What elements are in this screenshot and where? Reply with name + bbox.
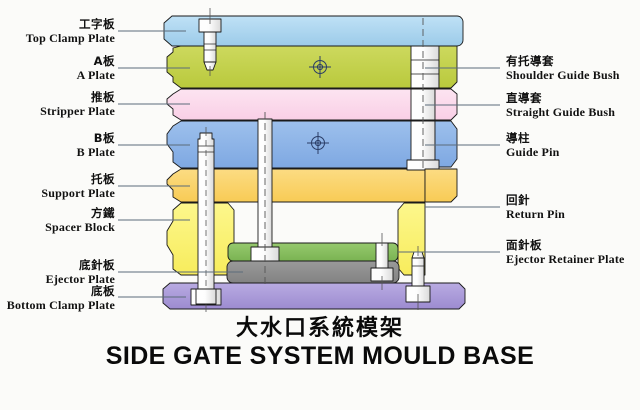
label-bottom-clamp-plate-en: Bottom Clamp Plate	[7, 298, 115, 312]
label-straight-guide-bush-en: Straight Guide Bush	[506, 105, 615, 119]
diagram-title: 大水口系統模架 SIDE GATE SYSTEM MOULD BASE	[0, 316, 640, 370]
shoulder-guide-bush	[411, 46, 439, 88]
label-spacer-block-en: Spacer Block	[45, 220, 115, 234]
label-straight-guide-bush: 直導套 Straight Guide Bush	[506, 92, 615, 119]
label-top-clamp-plate-cn: 工字板	[26, 18, 115, 31]
label-shoulder-guide-bush: 有托導套 Shoulder Guide Bush	[506, 55, 620, 82]
label-return-pin-cn: 回針	[506, 194, 565, 207]
label-stripper-plate: 推板 Stripper Plate	[40, 91, 115, 118]
label-stripper-plate-en: Stripper Plate	[40, 104, 115, 118]
label-support-plate: 托板 Support Plate	[41, 173, 115, 200]
label-top-clamp-plate-en: Top Clamp Plate	[26, 31, 115, 45]
label-bottom-clamp-plate-cn: 底板	[7, 285, 115, 298]
label-a-plate: A板 A Plate	[77, 55, 115, 82]
label-shoulder-guide-bush-en: Shoulder Guide Bush	[506, 68, 620, 82]
label-guide-pin-cn: 導柱	[506, 132, 559, 145]
label-top-clamp-plate: 工字板 Top Clamp Plate	[26, 18, 115, 45]
label-ejector-retainer-plate-cn: 面針板	[506, 239, 625, 252]
label-b-plate-en: B Plate	[77, 145, 115, 159]
diagram-title-cn: 大水口系統模架	[0, 316, 640, 342]
label-ejector-plate: 底針板 Ejector Plate	[46, 259, 115, 286]
label-bottom-clamp-plate: 底板 Bottom Clamp Plate	[7, 285, 115, 312]
label-ejector-plate-cn: 底針板	[46, 259, 115, 272]
label-guide-pin: 導柱 Guide Pin	[506, 132, 559, 159]
plate-stripper	[167, 89, 425, 120]
a-plate-right-sliver	[439, 46, 457, 88]
label-stripper-plate-cn: 推板	[40, 91, 115, 104]
label-spacer-block: 方鐵 Spacer Block	[45, 207, 115, 234]
label-return-pin: 回針 Return Pin	[506, 194, 565, 221]
label-guide-pin-en: Guide Pin	[506, 145, 559, 159]
diagram-title-en: SIDE GATE SYSTEM MOULD BASE	[0, 342, 640, 370]
support-plate-right	[425, 169, 457, 202]
label-a-plate-cn: A板	[77, 55, 115, 68]
label-ejector-retainer-plate-en: Ejector Retainer Plate	[506, 252, 625, 266]
label-b-plate: B板 B Plate	[77, 132, 115, 159]
label-support-plate-cn: 托板	[41, 173, 115, 186]
label-b-plate-cn: B板	[77, 132, 115, 145]
cap-screw-bottom-left	[196, 289, 216, 304]
label-a-plate-en: A Plate	[77, 68, 115, 82]
label-straight-guide-bush-cn: 直導套	[506, 92, 615, 105]
label-support-plate-en: Support Plate	[41, 186, 115, 200]
label-return-pin-en: Return Pin	[506, 207, 565, 221]
label-shoulder-guide-bush-cn: 有托導套	[506, 55, 620, 68]
label-spacer-block-cn: 方鐵	[45, 207, 115, 220]
label-ejector-retainer-plate: 面針板 Ejector Retainer Plate	[506, 239, 625, 266]
